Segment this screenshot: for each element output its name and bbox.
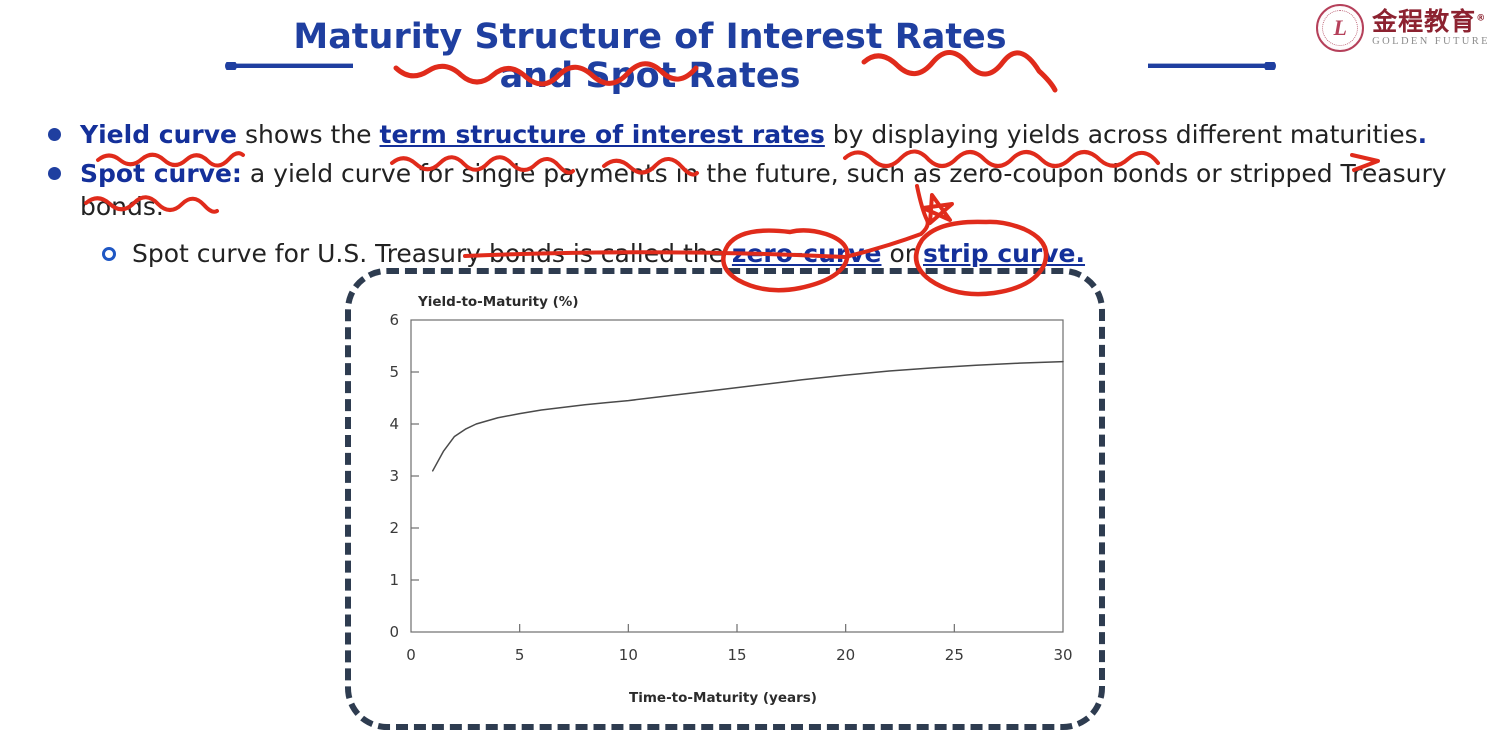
- bullet-plain-1: shows the: [237, 120, 380, 149]
- bullet-period-1: .: [1418, 120, 1428, 149]
- yield-curve-chart: Yield-to-Maturity (%) 012345605101520253…: [345, 268, 1105, 730]
- term-spot-curve: Spot curve:: [80, 159, 242, 188]
- bullet-text-spot-curve: Spot curve: a yield curve for single pay…: [80, 157, 1468, 223]
- bullet-text-zero-strip: Spot curve for U.S. Treasury bonds is ca…: [132, 237, 1085, 270]
- logo-english-name: GOLDEN FUTURE: [1372, 37, 1490, 48]
- slide-title-line2: and Spot Rates: [0, 57, 1300, 96]
- bullet-ring-icon: [102, 247, 116, 261]
- bullet-item-yield-curve: Yield curve shows the term structure of …: [48, 118, 1468, 151]
- slide-title-block: Maturity Structure of Interest Rates and…: [0, 18, 1300, 96]
- logo-seal-monogram: L: [1333, 17, 1346, 39]
- chart-y-tick-label: 3: [389, 467, 399, 485]
- bullet-plain-5: or: [882, 239, 923, 268]
- chart-y-tick-label: 2: [389, 519, 399, 537]
- chart-x-tick-label: 10: [619, 646, 638, 664]
- bullet-text-yield-curve: Yield curve shows the term structure of …: [80, 118, 1427, 151]
- logo-chinese-label: 金程教育: [1372, 7, 1476, 36]
- logo-seal-icon: L: [1316, 4, 1364, 52]
- title-decoration-left: [225, 62, 353, 70]
- title-decoration-right: [1148, 62, 1276, 70]
- bullet-plain-3: a yield curve for single payments in the…: [80, 159, 1447, 221]
- bullet-item-zero-strip-curve: Spot curve for U.S. Treasury bonds is ca…: [102, 237, 1468, 270]
- chart-plot-area: 0123456051015202530: [373, 312, 1073, 682]
- bullet-plain-4: Spot curve for U.S. Treasury bonds is ca…: [132, 239, 732, 268]
- chart-y-axis-title: Yield-to-Maturity (%): [418, 294, 579, 310]
- chart-x-tick-label: 0: [406, 646, 416, 664]
- bullet-dot-icon: [48, 128, 61, 141]
- chart-y-tick-label: 5: [389, 363, 399, 381]
- chart-series-line: [433, 362, 1063, 471]
- bullet-dot-icon: [48, 167, 61, 180]
- chart-y-tick-label: 1: [389, 571, 399, 589]
- logo-text-block: 金程教育® GOLDEN FUTURE: [1372, 9, 1490, 48]
- chart-y-tick-label: 0: [389, 623, 399, 641]
- term-strip-curve: strip curve.: [923, 239, 1085, 268]
- registered-mark-icon: ®: [1476, 13, 1486, 23]
- bullet-list: Yield curve shows the term structure of …: [48, 118, 1468, 276]
- chart-x-axis-title: Time-to-Maturity (years): [373, 690, 1073, 706]
- brand-logo: L 金程教育® GOLDEN FUTURE: [1316, 4, 1490, 52]
- chart-x-tick-label: 25: [945, 646, 964, 664]
- chart-y-tick-label: 6: [389, 312, 399, 329]
- chart-x-tick-label: 15: [727, 646, 746, 664]
- chart-x-tick-label: 20: [836, 646, 855, 664]
- chart-x-tick-label: 30: [1053, 646, 1072, 664]
- term-yield-curve: Yield curve: [80, 120, 237, 149]
- logo-chinese-name: 金程教育®: [1372, 9, 1490, 34]
- bullet-item-spot-curve: Spot curve: a yield curve for single pay…: [48, 157, 1468, 223]
- chart-x-tick-label: 5: [515, 646, 525, 664]
- chart-y-tick-label: 4: [389, 415, 399, 433]
- bullet-plain-2: by displaying yields across different ma…: [825, 120, 1418, 149]
- chart-inner: Yield-to-Maturity (%) 012345605101520253…: [373, 294, 1073, 704]
- term-term-structure: term structure of interest rates: [380, 120, 825, 149]
- term-zero-curve: zero-curve: [732, 239, 882, 268]
- chart-frame: [411, 320, 1063, 632]
- slide-title-line1: Maturity Structure of Interest Rates: [0, 18, 1300, 57]
